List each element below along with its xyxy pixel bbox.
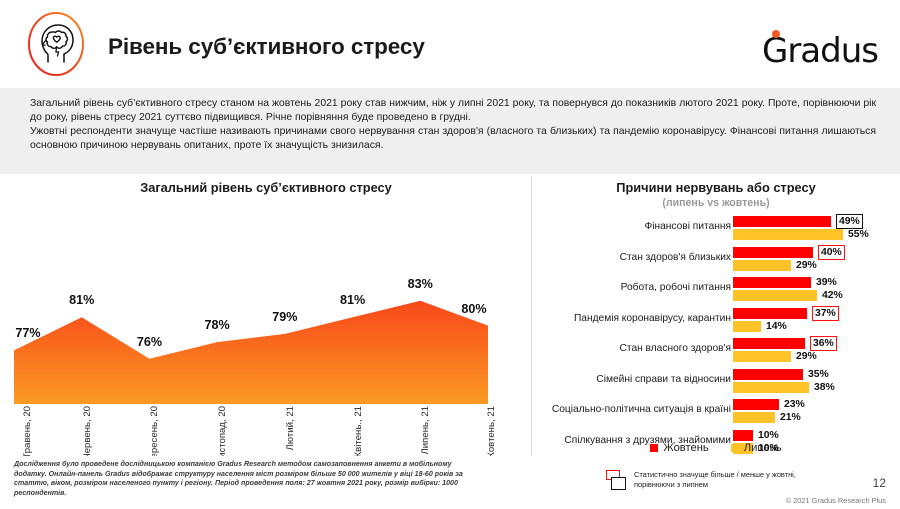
bar-october	[733, 277, 811, 288]
bar-october	[733, 216, 831, 227]
area-value-label: 77%	[15, 326, 40, 340]
bar-row-track: 39%42%	[733, 277, 853, 303]
bar-value-july: 55%	[848, 229, 869, 240]
area-value-label: 83%	[408, 277, 433, 291]
bar-july	[733, 412, 775, 423]
area-x-axis-label: Лютий, 21	[285, 406, 296, 450]
area-x-axis-label: Червень, 20	[82, 406, 93, 460]
bar-value-october: 39%	[816, 277, 837, 288]
bar-row-track: 23%21%	[733, 399, 853, 425]
stress-level-area-chart: Загальний рівень суб’єктивного стресу 77…	[0, 174, 532, 456]
bar-october	[733, 308, 807, 319]
area-x-axis-label: Травень, 20	[22, 406, 33, 459]
area-x-axis-label: Липень, 21	[420, 406, 431, 454]
bar-chart-title: Причини нервувань або стресу	[532, 180, 900, 195]
legend-item[interactable]: Липень	[731, 442, 782, 454]
bar-row[interactable]: Робота, робочі питання39%42%	[532, 275, 900, 304]
legend-swatch-icon	[731, 444, 739, 452]
bar-october	[733, 369, 803, 380]
bar-row-track: 36%29%	[733, 338, 853, 364]
significance-marks-icon	[606, 470, 628, 492]
bar-value-october: 37%	[812, 306, 839, 321]
summary-band: Загальний рівень суб’єктивного стресу ст…	[0, 88, 900, 174]
bar-value-october: 10%	[758, 430, 779, 441]
significance-lower-icon	[611, 477, 626, 490]
bar-row-label: Стан здоров'я близьких	[620, 252, 731, 263]
bar-row[interactable]: Стан здоров'я близьких40%29%	[532, 245, 900, 274]
bar-row-label: Пандемія коронавірусу, карантин	[574, 313, 731, 324]
page-number: 12	[873, 476, 886, 490]
page-title: Рівень суб’єктивного стресу	[108, 34, 425, 60]
bar-value-july: 21%	[780, 412, 801, 423]
legend-swatch-icon	[650, 444, 658, 452]
bar-value-july: 42%	[822, 290, 843, 301]
slide-footer: Дослідження було проведене дослідницькою…	[0, 456, 900, 509]
bar-row-track: 49%55%	[733, 216, 853, 242]
bar-value-october: 36%	[810, 336, 837, 351]
bar-july	[733, 260, 791, 271]
logo-text: Gradus	[762, 34, 878, 68]
bar-july	[733, 290, 817, 301]
gradus-logo: Gradus	[762, 24, 878, 68]
head-brain-heart-icon	[22, 10, 90, 78]
bar-row-label: Сімейні справи та відносини	[596, 374, 731, 385]
bar-row[interactable]: Соціально-політична ситуація в країні23%…	[532, 397, 900, 426]
bar-row-label: Соціально-політична ситуація в країні	[552, 404, 731, 415]
bar-row[interactable]: Сімейні справи та відносини35%38%	[532, 367, 900, 396]
bar-chart-legend: ЖовтеньЛипень	[532, 442, 900, 454]
summary-paragraph-2: Ужовтні респонденти значуще частіше нази…	[30, 125, 876, 153]
bar-value-july: 29%	[796, 351, 817, 362]
slide-header: Рівень суб’єктивного стресу Gradus	[0, 0, 900, 88]
area-value-label: 81%	[340, 293, 365, 307]
bar-value-october: 23%	[784, 399, 805, 410]
bar-row-track: 37%14%	[733, 308, 853, 334]
area-chart-title: Загальний рівень суб’єктивного стресу	[0, 180, 532, 195]
bar-value-october: 40%	[818, 245, 845, 260]
significance-legend: Статистично значуще більше / менше у жов…	[606, 470, 834, 492]
bar-october	[733, 430, 753, 441]
legend-item[interactable]: Жовтень	[650, 442, 708, 454]
bar-row-track: 40%29%	[733, 247, 853, 273]
significance-note-text: Статистично значуще більше / менше у жов…	[634, 470, 834, 489]
methodology-note: Дослідження було проведене дослідницькою…	[14, 460, 484, 498]
logo-dot-icon	[772, 30, 780, 38]
bar-value-july: 29%	[796, 260, 817, 271]
bar-october	[733, 399, 779, 410]
copyright-text: © 2021 Gradus Research Plus	[786, 496, 886, 505]
area-chart-plot: 77%81%76%78%79%81%83%80%	[14, 218, 488, 404]
bar-chart-subtitle: (липень vs жовтень)	[532, 197, 900, 209]
bar-value-october: 49%	[836, 214, 863, 229]
area-value-label: 79%	[272, 310, 297, 324]
area-x-axis-label: Жовтень, 21	[486, 406, 497, 461]
bar-july	[733, 229, 843, 240]
bar-value-july: 38%	[814, 382, 835, 393]
stress-reasons-bar-chart: Причини нервувань або стресу (липень vs …	[532, 174, 900, 456]
bar-row-label: Стан власного здоров'я	[620, 343, 731, 354]
bar-row[interactable]: Стан власного здоров'я36%29%	[532, 336, 900, 365]
bar-july	[733, 321, 761, 332]
area-chart-x-axis: Травень, 20Червень, 20Вересень, 20Листоп…	[14, 406, 488, 452]
bar-july	[733, 351, 791, 362]
bar-row[interactable]: Пандемія коронавірусу, карантин37%14%	[532, 306, 900, 335]
legend-label: Липень	[744, 442, 782, 454]
bar-row-label: Робота, робочі питання	[621, 282, 731, 293]
bar-october	[733, 247, 813, 258]
area-value-label: 81%	[69, 293, 94, 307]
area-chart-svg	[14, 218, 488, 404]
bar-value-july: 14%	[766, 321, 787, 332]
bar-value-october: 35%	[808, 369, 829, 380]
bar-row-track: 35%38%	[733, 369, 853, 395]
bar-october	[733, 338, 805, 349]
area-value-label: 78%	[205, 318, 230, 332]
summary-paragraph-1: Загальний рівень суб’єктивного стресу ст…	[30, 97, 876, 125]
bar-july	[733, 382, 809, 393]
bar-row[interactable]: Фінансові питання49%55%	[532, 214, 900, 243]
legend-label: Жовтень	[663, 442, 708, 454]
bar-row-label: Фінансові питання	[645, 221, 732, 232]
area-x-axis-label: Квітень., 21	[353, 406, 364, 457]
area-value-label: 80%	[461, 302, 486, 316]
area-value-label: 76%	[137, 335, 162, 349]
